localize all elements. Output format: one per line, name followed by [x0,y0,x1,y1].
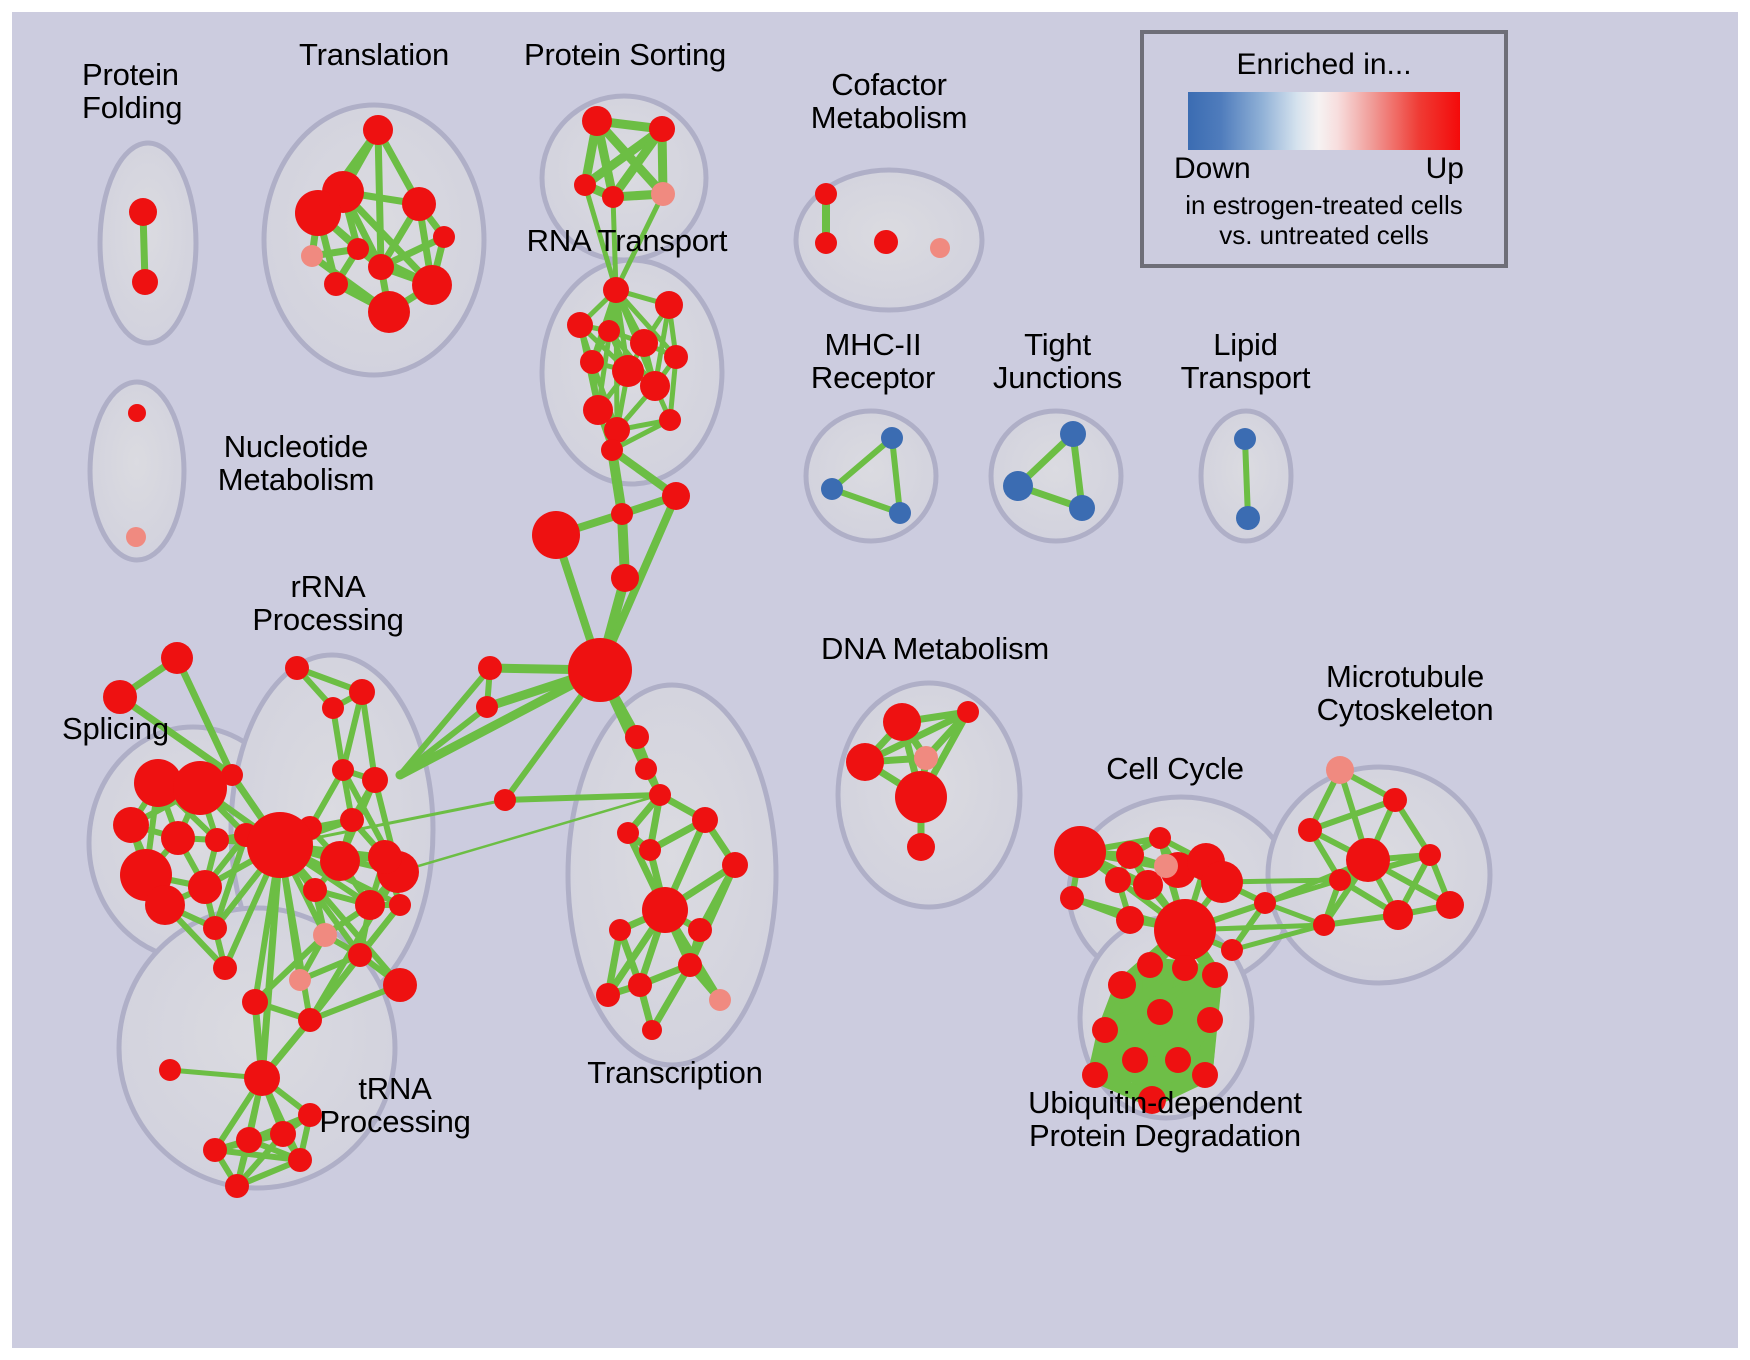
cluster-label-ubiquitin-degradation: Ubiquitin-dependent Protein Degradation [980,1086,1350,1153]
cluster-label-dna-metabolism: DNA Metabolism [800,632,1070,665]
cluster-label-rna-transport: RNA Transport [512,224,742,257]
cluster-label-tight-junctions: Tight Junctions [975,328,1140,395]
cluster-label-mhc-ii-receptor: MHC-II Receptor [788,328,958,395]
cluster-label-protein-folding: Protein Folding [82,58,252,125]
legend-caption-line2: vs. untreated cells [1144,220,1504,250]
cluster-label-rrna-processing: rRNA Processing [238,570,418,637]
cluster-label-protein-sorting: Protein Sorting [500,38,750,71]
hull-mhc [806,411,936,541]
legend-title: Enriched in... [1144,48,1504,82]
cluster-label-microtubule-cytoskeleton: Microtubule Cytoskeleton [1290,660,1520,727]
cluster-label-lipid-transport: Lipid Transport [1163,328,1328,395]
cluster-label-nucleotide-metabolism: Nucleotide Metabolism [196,430,396,497]
legend-panel: Enriched in... Down Up in estrogen-treat… [1140,30,1508,268]
hull-protein-folding [100,143,196,343]
cluster-label-transcription: Transcription [560,1056,790,1089]
cluster-label-translation: Translation [274,38,474,71]
legend-color-gradient-bar [1188,92,1460,150]
hull-transcription [568,685,776,1065]
cluster-label-splicing: Splicing [62,712,232,745]
legend-caption-line1: in estrogen-treated cells [1144,190,1504,220]
figure-canvas: Protein Folding Translation Protein Sort… [0,0,1750,1360]
cluster-label-cell-cycle: Cell Cycle [1080,752,1270,785]
cluster-label-cofactor-metabolism: Cofactor Metabolism [789,68,989,135]
legend-up-label: Up [1426,152,1464,186]
legend-endpoint-labels: Down Up [1174,152,1474,190]
cluster-label-trna-processing: tRNA Processing [300,1072,490,1139]
legend-down-label: Down [1174,152,1251,186]
